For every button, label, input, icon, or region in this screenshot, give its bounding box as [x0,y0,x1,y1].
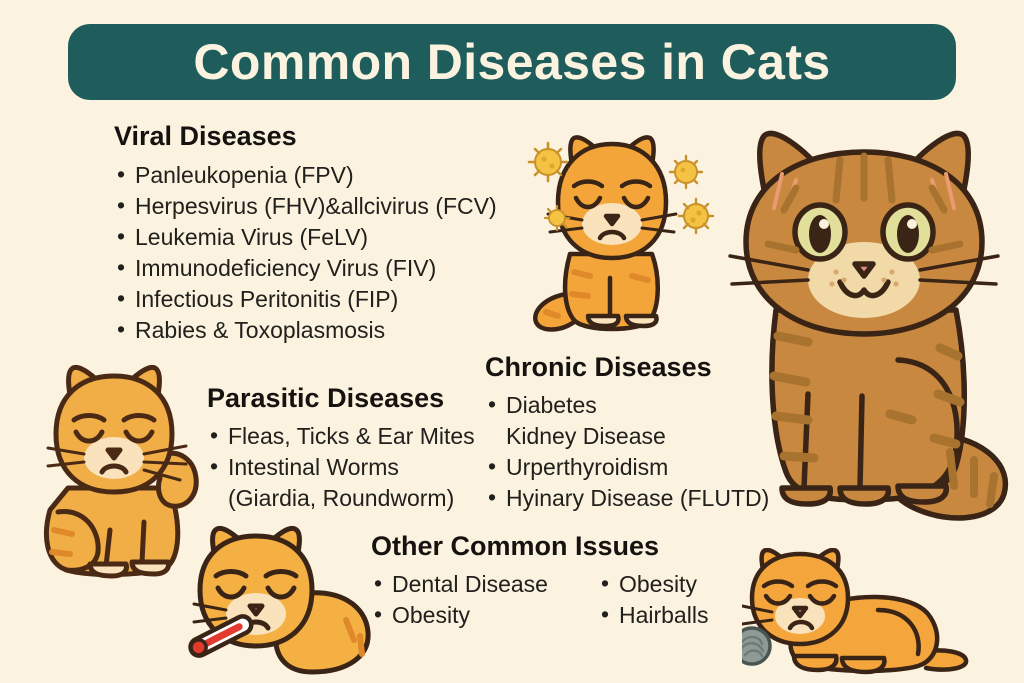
list-item: Diabetes [485,390,769,421]
section-chronic-diseases: Chronic Diseases Diabetes Kidney Disease… [485,352,769,514]
viral-diseases-list: Panleukopenia (FPV) Herpesvirus (FHV)&al… [114,160,497,346]
list-item: Leukemia Virus (FeLV) [114,222,497,253]
section-heading-parasitic: Parasitic Diseases [207,383,475,414]
thermometer-cat-icon [182,524,380,676]
lying-cat-with-hairball-illustration [742,548,992,678]
other-issues-list-right: Obesity Hairballs [598,569,708,631]
other-issues-list-left: Dental Disease Obesity [371,569,548,631]
list-item: Infectious Peritonitis (FIP) [114,284,497,315]
title-banner: Common Diseases in Cats [68,24,956,100]
section-viral-diseases: Viral Diseases Panleukopenia (FPV) Herpe… [114,121,497,346]
cat-with-thermometer-illustration [182,524,380,676]
parasitic-diseases-list: Fleas, Ticks & Ear Mites Intestinal Worm… [207,421,475,514]
list-item: Panleukopenia (FPV) [114,160,497,191]
list-item: Hairballs [598,600,708,631]
section-other-common-issues: Other Common Issues Dental Disease Obesi… [371,531,708,631]
section-parasitic-diseases: Parasitic Diseases Fleas, Ticks & Ear Mi… [207,383,475,514]
list-item: Fleas, Ticks & Ear Mites [207,421,475,452]
list-item: Herpesvirus (FHV)&allcivirus (FCV) [114,191,497,222]
page-title: Common Diseases in Cats [193,37,830,87]
section-heading-chronic: Chronic Diseases [485,352,769,383]
chronic-diseases-list: Diabetes Kidney Disease Urperthyroidism … [485,390,769,514]
section-heading-viral: Viral Diseases [114,121,497,152]
hairball-icon [742,628,770,664]
list-item: Kidney Disease [485,421,769,452]
list-item: (Giardia, Roundworm) [207,483,475,514]
section-heading-other: Other Common Issues [371,531,708,562]
list-item: Obesity [598,569,708,600]
list-item: Hyinary Disease (FLUTD) [485,483,769,514]
list-item: Rabies & Toxoplasmosis [114,315,497,346]
list-item: Dental Disease [371,569,548,600]
other-issues-columns: Dental Disease Obesity Obesity Hairballs [371,569,708,631]
list-item: Obesity [371,600,548,631]
list-item: Urperthyroidism [485,452,769,483]
lying-cat-icon [742,548,992,678]
sad-cat-icon [524,126,724,342]
list-item: Immunodeficiency Virus (FIV) [114,253,497,284]
list-item: Intestinal Worms [207,452,475,483]
infographic-poster: Common Diseases in Cats Viral Diseases P… [0,0,1024,683]
sad-cat-with-viruses-illustration [524,126,724,342]
